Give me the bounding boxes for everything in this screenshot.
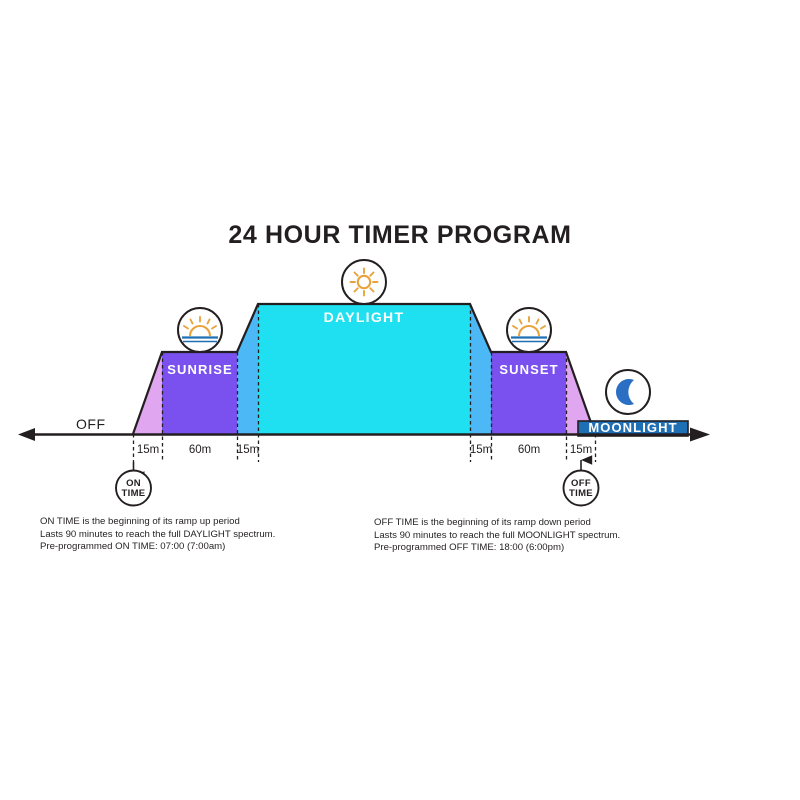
arrow-left-icon (18, 428, 35, 441)
on-time-caption-line3: Pre-programmed ON TIME: 07:00 (7:00am) (40, 541, 275, 554)
tick-label-6: 15m (570, 444, 592, 456)
on-time-caption: ON TIME is the beginning of its ramp up … (40, 516, 275, 554)
off-time-caption-line2: Lasts 90 minutes to reach the full MOONL… (374, 530, 620, 543)
tick-label-2: 60m (189, 444, 211, 456)
off-time-caption: OFF TIME is the beginning of its ramp do… (374, 517, 620, 555)
sunrise-icon (178, 308, 222, 352)
diagram-canvas: 24 HOUR TIMER PROGRAM (0, 0, 800, 800)
tick-label-1: 15m (137, 444, 159, 456)
on-time-marker: ON TIME (116, 462, 151, 506)
sunrise-label: SUNRISE (167, 362, 233, 377)
tick-label-4: 15m (470, 444, 492, 456)
sunset-icon (507, 308, 551, 352)
sun-icon (342, 260, 386, 304)
sunset-label: SUNSET (499, 362, 558, 377)
timer-program-diagram: MOONLIGHT OFF 15m 60m 15m 15m 60m 15m SU… (0, 0, 800, 800)
off-axis-label: OFF (76, 416, 106, 432)
on-time-caption-line1: ON TIME is the beginning of its ramp up … (40, 516, 275, 529)
off-time-caption-line3: Pre-programmed OFF TIME: 18:00 (6:00pm) (374, 542, 620, 555)
band-ramp-mid-15m (237, 304, 258, 434)
band-ramp-down-mid-15m (470, 304, 491, 434)
on-time-caption-line2: Lasts 90 minutes to reach the full DAYLI… (40, 529, 275, 542)
off-time-caption-line1: OFF TIME is the beginning of its ramp do… (374, 517, 620, 530)
daylight-label: DAYLIGHT (324, 309, 405, 325)
off-time-marker: OFF TIME (564, 460, 599, 506)
tick-label-5: 60m (518, 444, 540, 456)
moonlight-label: MOONLIGHT (588, 420, 677, 435)
moon-icon (606, 370, 650, 414)
on-time-badge-line2: TIME (122, 488, 146, 499)
tick-label-3: 15m (237, 444, 259, 456)
off-time-badge-line2: TIME (569, 488, 593, 499)
